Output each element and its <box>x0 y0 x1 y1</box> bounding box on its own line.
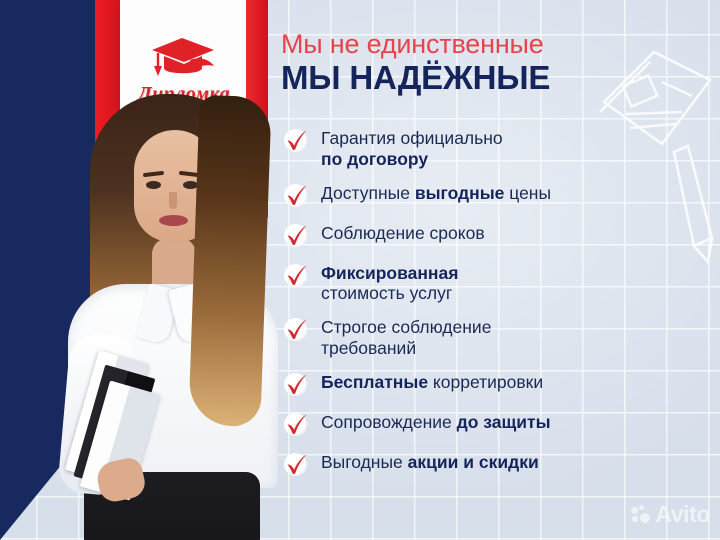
checklist-item: Соблюдение сроков <box>283 221 697 249</box>
red-checkmark-icon <box>283 222 310 249</box>
checklist-item-label: Сопровождение до защиты <box>321 410 551 433</box>
red-checkmark-icon <box>283 127 310 154</box>
red-checkmark-icon <box>283 316 310 343</box>
hair-front-right <box>188 95 271 427</box>
checklist-item-label: Гарантия официальнопо договору <box>321 126 503 170</box>
checklist-item-label: Выгодные акции и скидки <box>321 450 539 473</box>
checklist-item: Фиксированнаястоимость услуг <box>283 261 697 305</box>
benefits-checklist: Гарантия официальнопо договоруДоступные … <box>283 126 697 490</box>
checklist-item: Гарантия официальнопо договору <box>283 126 697 170</box>
checklist-item: Строгое соблюдениетребований <box>283 315 697 359</box>
checklist-item-label: Соблюдение сроков <box>321 221 485 244</box>
checklist-item-label: Строгое соблюдениетребований <box>321 315 491 359</box>
student-photo <box>44 88 292 540</box>
nose <box>169 192 177 209</box>
avito-label: Avito <box>655 501 710 528</box>
checklist-item: Выгодные акции и скидки <box>283 450 697 478</box>
avito-dots-icon <box>631 505 650 524</box>
red-checkmark-icon <box>283 451 310 478</box>
headline-line-1: Мы не единственные <box>281 30 701 58</box>
checklist-item: Доступные выгодные цены <box>283 181 697 209</box>
headline: Мы не единственные МЫ НАДЁЖНЫЕ <box>281 30 701 96</box>
red-checkmark-icon <box>283 371 310 398</box>
checklist-item: Сопровождение до защиты <box>283 410 697 438</box>
red-checkmark-icon <box>283 262 310 289</box>
headline-line-2: МЫ НАДЁЖНЫЕ <box>281 60 701 96</box>
checklist-item-label: Доступные выгодные цены <box>321 181 551 204</box>
lips <box>159 215 188 226</box>
checklist-item-label: Фиксированнаястоимость услуг <box>321 261 458 305</box>
graduation-cap-icon <box>148 34 220 80</box>
red-checkmark-icon <box>283 411 310 438</box>
avito-watermark: Avito <box>631 501 710 528</box>
red-checkmark-icon <box>283 182 310 209</box>
checklist-item-label: Бесплатные корретировки <box>321 370 543 393</box>
advertisement-poster: Дипломка Мы не единственные МЫ НАДЁЖНЫЕ … <box>0 0 720 540</box>
checklist-item: Бесплатные корретировки <box>283 370 697 398</box>
